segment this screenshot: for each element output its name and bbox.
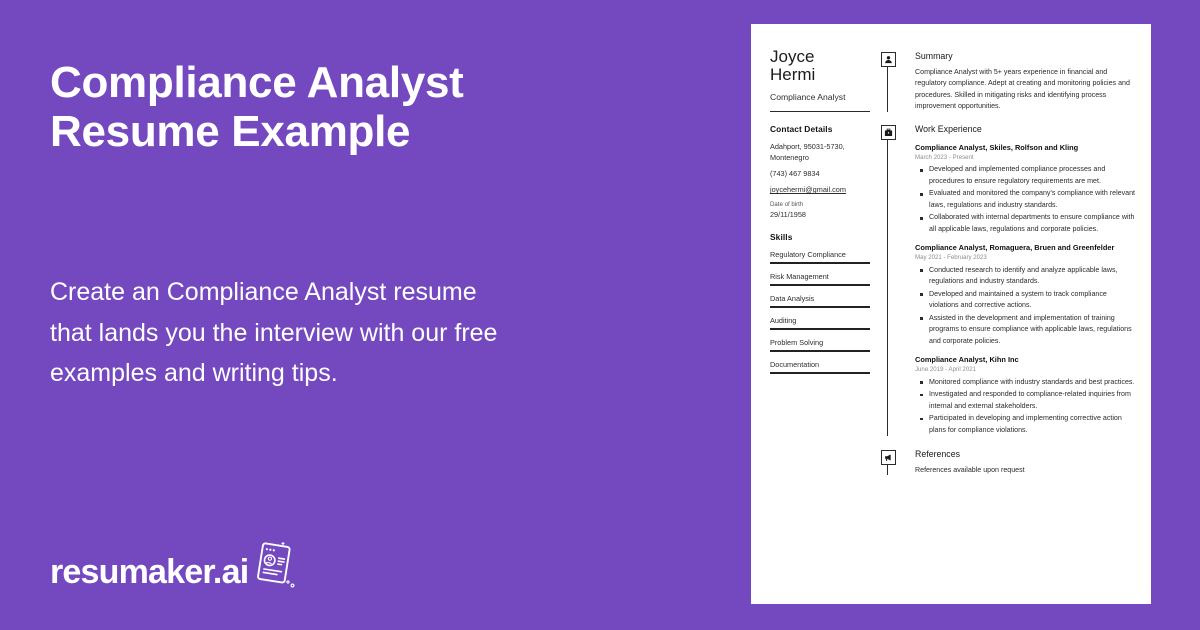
page-title: Compliance Analyst Resume Example — [50, 58, 610, 157]
contact-phone: (743) 467 9834 — [770, 168, 881, 179]
contact-details-block: Adahport, 95031-5730, Montenegro (743) 4… — [770, 141, 881, 220]
timeline-spine — [887, 138, 888, 436]
summary-text: Compliance Analyst with 5+ years experie… — [915, 67, 1138, 113]
work-experience-section: Work Experience Compliance Analyst, Skil… — [881, 123, 1138, 436]
skills-heading: Skills — [770, 232, 881, 242]
resume-candidate-name: Joyce Hermi — [770, 48, 881, 85]
contact-email[interactable]: joycehermi@gmail.com — [770, 184, 881, 195]
references-section: References References available upon req… — [881, 448, 1138, 475]
work-experience-item: Compliance Analyst, Skiles, Rolfson and … — [915, 143, 1138, 235]
skill-bar — [770, 350, 870, 352]
skills-list: Regulatory Compliance Risk Management Da… — [770, 250, 881, 375]
list-item: Regulatory Compliance — [770, 250, 881, 264]
list-item: Collaborated with internal departments t… — [929, 212, 1138, 235]
megaphone-icon — [881, 450, 896, 465]
resume-candidate-jobtitle: Compliance Analyst — [770, 92, 881, 102]
job-title: Compliance Analyst, Kihn Inc — [915, 355, 1138, 365]
contact-dob-value: 29/11/1958 — [770, 210, 881, 220]
list-item: Problem Solving — [770, 338, 881, 352]
list-item: Risk Management — [770, 272, 881, 286]
promo-panel: Compliance Analyst Resume Example Create… — [50, 0, 650, 630]
job-bullets: Monitored compliance with industry stand… — [915, 377, 1138, 436]
person-icon — [881, 52, 896, 67]
contact-address: Adahport, 95031-5730, Montenegro — [770, 141, 881, 163]
brand-logo-text: resumaker.ai — [50, 555, 248, 589]
job-bullets: Developed and implemented compliance pro… — [915, 164, 1138, 235]
list-item: Participated in developing and implement… — [929, 413, 1138, 436]
list-item: Documentation — [770, 360, 881, 374]
skill-label: Documentation — [770, 360, 881, 372]
work-experience-heading: Work Experience — [915, 123, 1138, 135]
resume-right-column: Summary Compliance Analyst with 5+ years… — [881, 24, 1151, 604]
job-title: Compliance Analyst, Skiles, Rolfson and … — [915, 143, 1138, 153]
skill-bar — [770, 262, 870, 264]
work-experience-item: Compliance Analyst, Romaguera, Bruen and… — [915, 243, 1138, 347]
skill-label: Problem Solving — [770, 338, 881, 350]
job-dates: March 2023 - Present — [915, 154, 1138, 163]
list-item: Data Analysis — [770, 294, 881, 308]
contact-details-heading: Contact Details — [770, 124, 881, 134]
skill-label: Risk Management — [770, 272, 881, 284]
resume-document-icon — [251, 540, 297, 595]
resume-preview-card[interactable]: Joyce Hermi Compliance Analyst Contact D… — [751, 24, 1151, 604]
job-dates: June 2019 - April 2021 — [915, 366, 1138, 375]
references-text: References available upon request — [915, 465, 1138, 476]
list-item: Conducted research to identify and analy… — [929, 265, 1138, 288]
skill-bar — [770, 284, 870, 286]
job-bullets: Conducted research to identify and analy… — [915, 265, 1138, 347]
list-item: Assisted in the development and implemen… — [929, 313, 1138, 347]
list-item: Developed and maintained a system to tra… — [929, 289, 1138, 312]
references-heading: References — [915, 448, 1138, 460]
poster-canvas: Compliance Analyst Resume Example Create… — [0, 0, 1200, 630]
skill-label: Regulatory Compliance — [770, 250, 881, 262]
summary-section: Summary Compliance Analyst with 5+ years… — [881, 50, 1138, 112]
contact-dob-label: Date of birth — [770, 201, 881, 209]
skill-label: Data Analysis — [770, 294, 881, 306]
skill-bar — [770, 328, 870, 330]
work-experience-item: Compliance Analyst, Kihn Inc June 2019 -… — [915, 355, 1138, 436]
skill-label: Auditing — [770, 316, 881, 328]
promo-subtext: Create an Compliance Analyst resume that… — [50, 272, 570, 394]
list-item: Investigated and responded to compliance… — [929, 389, 1138, 412]
job-title: Compliance Analyst, Romaguera, Bruen and… — [915, 243, 1138, 253]
resume-left-column: Joyce Hermi Compliance Analyst Contact D… — [751, 24, 881, 604]
timeline-spine — [887, 65, 888, 112]
list-item: Auditing — [770, 316, 881, 330]
skill-bar — [770, 372, 870, 374]
list-item: Developed and implemented compliance pro… — [929, 164, 1138, 187]
briefcase-icon — [881, 125, 896, 140]
list-item: Monitored compliance with industry stand… — [929, 377, 1138, 388]
brand-logo[interactable]: resumaker.ai — [50, 548, 297, 595]
summary-heading: Summary — [915, 50, 1138, 62]
divider — [770, 111, 870, 112]
skill-bar — [770, 306, 870, 308]
list-item: Evaluated and monitored the company's co… — [929, 188, 1138, 211]
job-dates: May 2021 - February 2023 — [915, 254, 1138, 263]
